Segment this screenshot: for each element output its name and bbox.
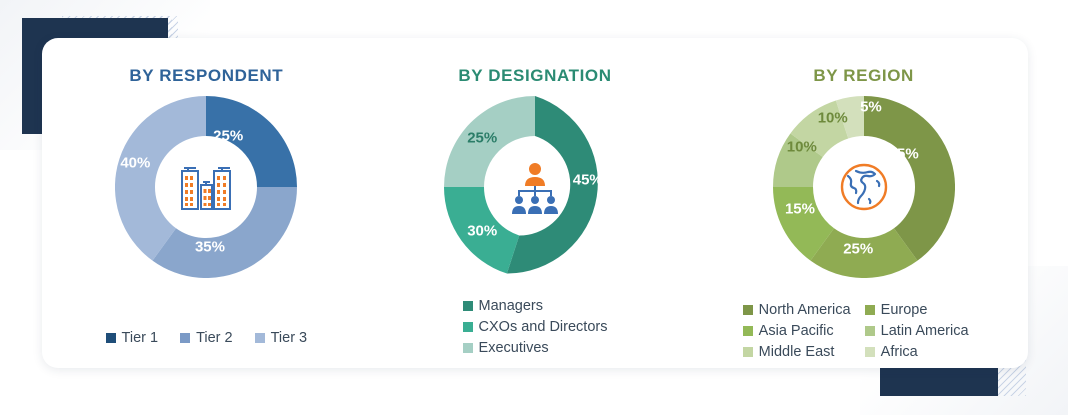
office-buildings-icon xyxy=(169,150,243,224)
legend-swatch-tier-3 xyxy=(255,333,265,343)
legend-item-africa[interactable]: Africa xyxy=(865,344,985,360)
infographic-card: BY RESPONDENT 25% xyxy=(42,38,1028,368)
donut-wrap-designation: 45% 30% 25% xyxy=(371,96,700,286)
legend-item-executives[interactable]: Executives xyxy=(463,340,608,356)
legend-item-managers[interactable]: Managers xyxy=(463,298,608,314)
legend-item-europe[interactable]: Europe xyxy=(865,302,985,318)
org-chart-people-icon xyxy=(498,150,572,224)
legend-item-latin-america[interactable]: Latin America xyxy=(865,323,985,339)
legend-swatch-latin-america xyxy=(865,326,875,336)
legend-item-tier-2[interactable]: Tier 2 xyxy=(180,330,233,346)
panel-container: BY RESPONDENT 25% xyxy=(42,38,1028,368)
legend-item-cxos-and-directors[interactable]: CXOs and Directors xyxy=(463,319,608,335)
legend-swatch-asia-pacific xyxy=(743,326,753,336)
panel-by-respondent: BY RESPONDENT 25% xyxy=(42,38,371,368)
legend-label-latin-america: Latin America xyxy=(881,323,969,339)
donut-chart-by-respondent: 25% 35% 40% xyxy=(115,96,297,278)
legend-label-north-america: North America xyxy=(759,302,851,318)
legend-item-north-america[interactable]: North America xyxy=(743,302,855,318)
legend-label-europe: Europe xyxy=(881,302,928,318)
bottom-right-bracket-horizontal xyxy=(880,366,998,396)
legend-swatch-north-america xyxy=(743,305,753,315)
panel-title-by-designation: BY DESIGNATION xyxy=(371,66,700,86)
legend-swatch-africa xyxy=(865,347,875,357)
panel-by-designation: BY DESIGNATION 45% 30% xyxy=(371,38,700,368)
legend-swatch-tier-2 xyxy=(180,333,190,343)
legend-item-tier-3[interactable]: Tier 3 xyxy=(255,330,308,346)
legend-label-cxos-and-directors: CXOs and Directors xyxy=(479,319,608,335)
donut-chart-by-designation: 45% 30% 25% xyxy=(444,96,626,278)
legend-swatch-europe xyxy=(865,305,875,315)
legend-label-tier-1: Tier 1 xyxy=(122,330,159,346)
legend-swatch-tier-1 xyxy=(106,333,116,343)
legend-label-managers: Managers xyxy=(479,298,543,314)
donut-chart-by-region: 35% 25% 15% 10% 10% 5% xyxy=(773,96,955,278)
legend-label-tier-3: Tier 3 xyxy=(271,330,308,346)
panel-by-region: BY REGION xyxy=(699,38,1028,368)
legend-label-africa: Africa xyxy=(881,344,918,360)
legend-swatch-executives xyxy=(463,343,473,353)
panel-title-by-respondent: BY RESPONDENT xyxy=(42,66,371,86)
donut-wrap-region: 35% 25% 15% 10% 10% 5% xyxy=(699,96,1028,286)
donut-wrap-respondent: 25% 35% 40% xyxy=(42,96,371,286)
legend-label-middle-east: Middle East xyxy=(759,344,835,360)
legend-swatch-cxos-and-directors xyxy=(463,322,473,332)
legend-label-tier-2: Tier 2 xyxy=(196,330,233,346)
legend-label-asia-pacific: Asia Pacific xyxy=(759,323,834,339)
legend-by-respondent: Tier 1 Tier 2 Tier 3 xyxy=(42,330,371,346)
globe-icon xyxy=(827,150,901,224)
panel-title-by-region: BY REGION xyxy=(699,66,1028,86)
legend-item-tier-1[interactable]: Tier 1 xyxy=(106,330,159,346)
legend-by-designation: Managers CXOs and Directors Executives xyxy=(371,298,700,356)
legend-label-executives: Executives xyxy=(479,340,549,356)
legend-swatch-managers xyxy=(463,301,473,311)
legend-by-region: North America Europe Asia Pacific Latin … xyxy=(699,302,1028,360)
legend-item-middle-east[interactable]: Middle East xyxy=(743,344,855,360)
legend-swatch-middle-east xyxy=(743,347,753,357)
legend-item-asia-pacific[interactable]: Asia Pacific xyxy=(743,323,855,339)
